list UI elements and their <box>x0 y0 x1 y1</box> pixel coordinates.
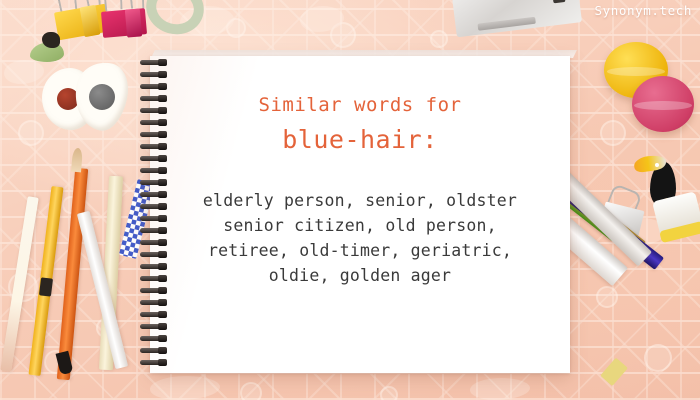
pink-macaron <box>632 76 694 132</box>
synonym-line: elderly person, senior, oldster <box>150 188 570 213</box>
query-word: blue-hair: <box>150 125 570 154</box>
site-watermark: Synonym.tech <box>594 3 692 18</box>
screenshot-root: Similar words for blue-hair: elderly per… <box>0 0 700 400</box>
page-content: Similar words for blue-hair: elderly per… <box>150 56 570 288</box>
synonym-line: retiree, old-timer, geriatric, <box>150 238 570 263</box>
yellow-pencil-ferrule <box>39 277 53 296</box>
synonym-line: senior citizen, old person, <box>150 213 570 238</box>
synonym-line: oldie, golden ager <box>150 263 570 288</box>
green-bird-eraser <box>26 32 66 64</box>
page-heading: Similar words for <box>150 94 570 116</box>
orange-pencil-tip <box>71 148 83 173</box>
synonym-list: elderly person, senior, oldster senior c… <box>150 188 570 288</box>
avocado-eraser-gray-pit <box>75 62 127 130</box>
